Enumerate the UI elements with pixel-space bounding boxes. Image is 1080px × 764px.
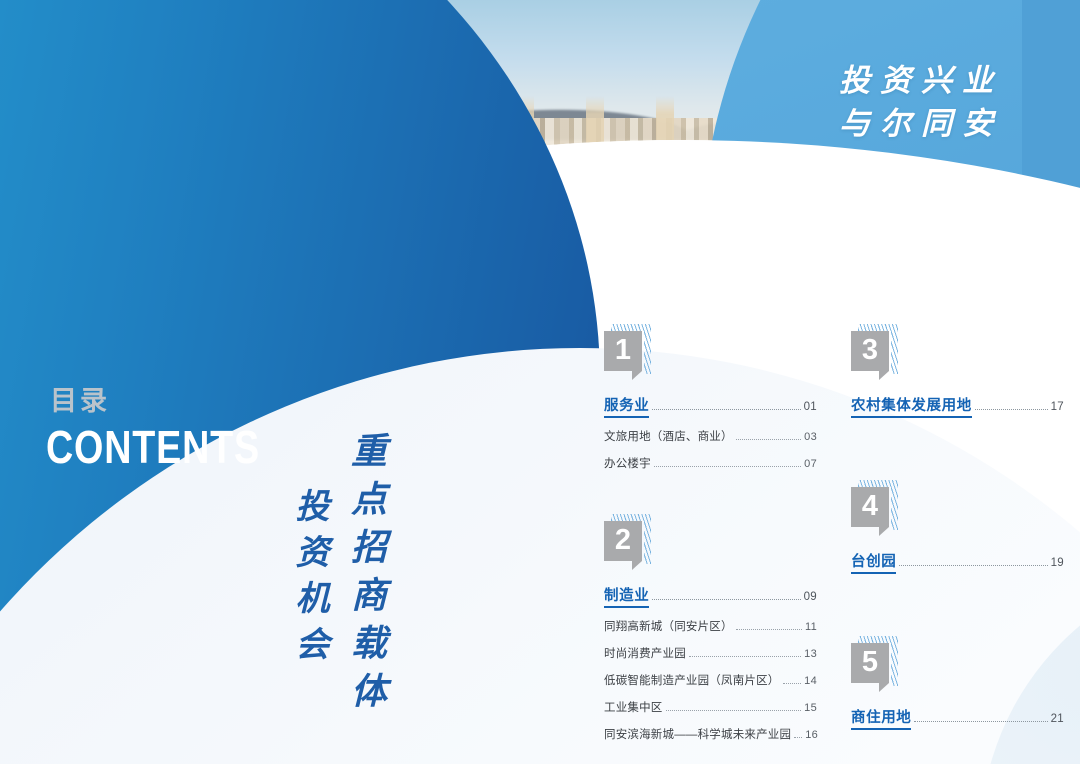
toc-sub-label: 低碳智能制造产业园（凤南片区） <box>604 672 780 688</box>
toc-main-entry[interactable]: 农村集体发展用地 17 <box>851 394 1064 418</box>
badge-number: 4 <box>851 487 889 527</box>
toc-main-entry[interactable]: 台创园 19 <box>851 550 1064 574</box>
toc-page-number: 09 <box>804 591 817 603</box>
toc-page-number: 03 <box>804 431 817 443</box>
toc-sub-entry[interactable]: 同翔高新城（同安片区） 11 <box>604 618 817 634</box>
toc-sub-entry[interactable]: 同安滨海新城——科学城未来产业园 16 <box>604 726 817 742</box>
toc-page-number: 14 <box>804 675 817 687</box>
leader-dots <box>975 408 1048 410</box>
leader-dots <box>689 655 801 657</box>
toc-main-label: 台创园 <box>851 550 896 574</box>
toc-sub-label: 同翔高新城（同安片区） <box>604 618 733 634</box>
leader-dots <box>666 709 802 711</box>
spacer <box>604 482 817 518</box>
speech-bubble-tail-icon <box>879 527 889 536</box>
toc-main-label: 服务业 <box>604 394 649 418</box>
toc-main-label: 制造业 <box>604 584 649 608</box>
leader-dots <box>736 438 801 440</box>
vertical-calligraphy: 重点招商载体 投资机会 <box>292 432 384 720</box>
toc-sub-entry[interactable]: 低碳智能制造产业园（凤南片区） 14 <box>604 672 817 688</box>
toc-section-4: 4 台创园 19 <box>851 484 1064 574</box>
toc-page-number: 07 <box>804 458 817 470</box>
speech-bubble-tail-icon <box>632 371 642 380</box>
toc-column-right: 3 农村集体发展用地 17 4 台创园 <box>851 328 1064 753</box>
toc-page-number: 19 <box>1051 557 1064 569</box>
badge-number: 2 <box>604 521 642 561</box>
toc-sub-label: 办公楼宇 <box>604 455 651 471</box>
spacer <box>851 428 1064 484</box>
toc-sub-entry[interactable]: 文旅用地（酒店、商业） 03 <box>604 428 817 444</box>
leader-dots <box>652 598 800 600</box>
badge-number: 3 <box>851 331 889 371</box>
contents-title-en: CONTENTS <box>46 424 292 470</box>
leader-dots <box>914 720 1047 722</box>
section-number-badge: 2 <box>604 518 646 568</box>
leader-dots <box>899 564 1047 566</box>
toc-page-number: 01 <box>804 401 817 413</box>
contents-title-cn: 目录 <box>50 388 346 415</box>
vertical-text-right: 重点招商载体 <box>348 432 384 720</box>
speech-bubble-tail-icon <box>632 561 642 570</box>
leader-dots <box>783 682 802 684</box>
speech-bubble-tail-icon <box>879 371 889 380</box>
section-number-badge: 1 <box>604 328 646 378</box>
toc-page-number: 17 <box>1051 401 1064 413</box>
table-of-contents: 1 服务业 01 文旅用地（酒店、商业） 03 办公楼宇 07 <box>604 328 1064 753</box>
toc-main-label: 商住用地 <box>851 706 911 730</box>
leader-dots <box>794 736 802 738</box>
toc-sub-entry[interactable]: 办公楼宇 07 <box>604 455 817 471</box>
toc-sub-entry[interactable]: 工业集中区 15 <box>604 699 817 715</box>
toc-section-3: 3 农村集体发展用地 17 <box>851 328 1064 418</box>
toc-page-number: 13 <box>804 648 817 660</box>
toc-main-label: 农村集体发展用地 <box>851 394 972 418</box>
badge-number: 5 <box>851 643 889 683</box>
leader-dots <box>654 465 801 467</box>
toc-page-number: 15 <box>804 702 817 714</box>
toc-section-2: 2 制造业 09 同翔高新城（同安片区） 11 时尚消费产业园 13 <box>604 518 817 742</box>
section-number-badge: 5 <box>851 640 893 690</box>
leader-dots <box>736 628 802 630</box>
toc-sub-label: 文旅用地（酒店、商业） <box>604 428 733 444</box>
section-number-badge: 3 <box>851 328 893 378</box>
toc-sub-label: 工业集中区 <box>604 699 663 715</box>
leader-dots <box>652 408 800 410</box>
toc-column-left: 1 服务业 01 文旅用地（酒店、商业） 03 办公楼宇 07 <box>604 328 817 753</box>
spacer <box>851 584 1064 640</box>
vertical-text-left: 投资机会 <box>292 488 326 720</box>
toc-page-number: 16 <box>805 729 818 741</box>
toc-page-number: 11 <box>805 621 817 633</box>
toc-main-entry[interactable]: 商住用地 21 <box>851 706 1064 730</box>
toc-page-number: 21 <box>1051 713 1064 725</box>
toc-sub-label: 同安滨海新城——科学城未来产业园 <box>604 726 791 742</box>
section-number-badge: 4 <box>851 484 893 534</box>
toc-main-entry[interactable]: 服务业 01 <box>604 394 817 418</box>
badge-number: 1 <box>604 331 642 371</box>
toc-section-5: 5 商住用地 21 <box>851 640 1064 730</box>
toc-sub-label: 时尚消费产业园 <box>604 645 686 661</box>
toc-sub-entry[interactable]: 时尚消费产业园 13 <box>604 645 817 661</box>
toc-section-1: 1 服务业 01 文旅用地（酒店、商业） 03 办公楼宇 07 <box>604 328 817 471</box>
speech-bubble-tail-icon <box>879 683 889 692</box>
toc-main-entry[interactable]: 制造业 09 <box>604 584 817 608</box>
contents-page: 投资兴业 与尔同安 目录 CONTENTS 重点招商载体 投资机会 1 服务业 <box>0 0 1080 764</box>
